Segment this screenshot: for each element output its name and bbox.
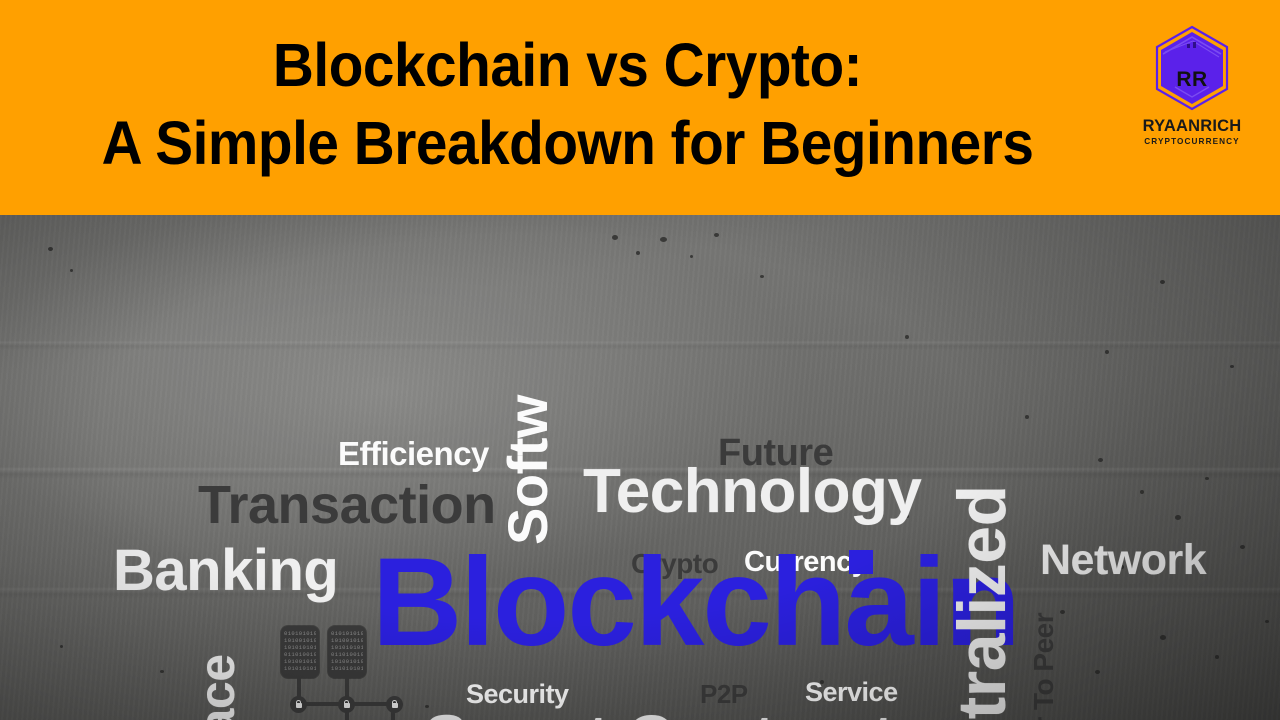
logo-brand-name: RYAANRICH xyxy=(1132,118,1252,135)
lock-icon xyxy=(338,696,355,713)
node-bits: 010101010 101001010 101010101 011010010 … xyxy=(331,630,363,674)
logo-tagline: CRYPTOCURRENCY xyxy=(1132,137,1252,146)
word-peer-to-peer: Peer To Peer xyxy=(1030,613,1058,720)
word-network: Network xyxy=(1040,539,1206,582)
word-decentralized: Decentralized xyxy=(948,485,1016,720)
word-smart-contract: Smart Contract xyxy=(424,705,894,720)
page-title: Blockchain vs Crypto: A Simple Breakdown… xyxy=(0,26,1135,182)
word-efficiency: Efficiency xyxy=(338,437,489,470)
node-bits: 010101010 101001010 101010101 011010010 … xyxy=(284,630,316,674)
hexagon-logo-mark: RR xyxy=(1153,24,1231,112)
word-software: Softw xyxy=(500,395,556,545)
lock-icon xyxy=(290,696,307,713)
word-blockchain: Blockchain xyxy=(372,540,1019,665)
lock-icon xyxy=(386,696,403,713)
brand-logo[interactable]: RR RYAANRICH CRYPTOCURRENCY xyxy=(1132,24,1252,146)
wordcloud-image: Efficiency Transaction Softw Future Tech… xyxy=(0,215,1280,720)
word-technology: Technology xyxy=(583,461,921,523)
title-line-2: A Simple Breakdown for Beginners xyxy=(40,104,1096,182)
logo-monogram: RR xyxy=(1153,68,1231,92)
header-bar: Blockchain vs Crypto: A Simple Breakdown… xyxy=(0,0,1280,215)
word-transaction: Transaction xyxy=(198,478,496,532)
word-cyberspace: Cyberspace xyxy=(192,655,242,720)
title-line-1: Blockchain vs Crypto: xyxy=(40,26,1096,104)
word-banking: Banking xyxy=(113,542,338,600)
poster-canvas: Blockchain vs Crypto: A Simple Breakdown… xyxy=(0,0,1280,720)
